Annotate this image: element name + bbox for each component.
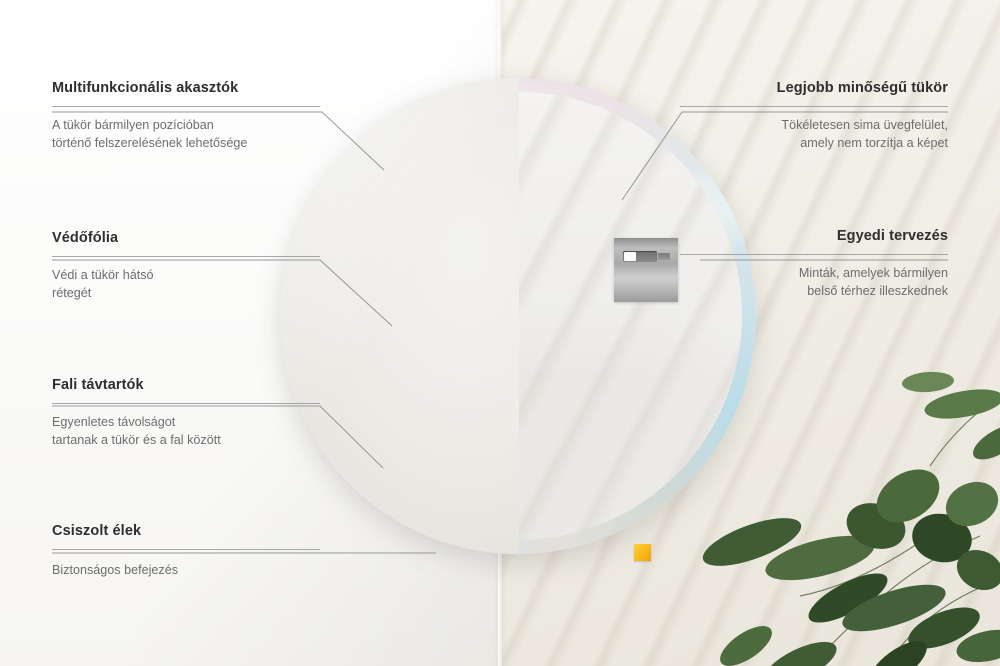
infographic-canvas: Multifunkcionális akasztók A tükör bármi… xyxy=(0,0,1000,666)
callout-description-line: Tökéletesen sima üvegfelület, xyxy=(781,118,948,132)
callout-description: Tökéletesen sima üvegfelület, amely nem … xyxy=(680,117,948,153)
callout-unique-design: Egyedi tervezés Minták, amelyek bármilye… xyxy=(680,228,948,301)
callout-protective-film: Védőfólia Védi a tükör hátsó rétegét xyxy=(52,230,320,303)
callout-title: Fali távtartók xyxy=(52,377,320,394)
callout-rule xyxy=(680,106,948,107)
callout-description: A tükör bármilyen pozícióban történő fel… xyxy=(52,117,320,153)
mirror-reflection xyxy=(518,92,742,540)
callout-title: Legjobb minőségű tükör xyxy=(680,80,948,97)
callout-description-line: tartanak a tükör és a fal között xyxy=(52,433,221,447)
callout-title: Védőfólia xyxy=(52,230,320,247)
callout-description-line: Minták, amelyek bármilyen xyxy=(799,266,948,280)
callout-rule xyxy=(52,106,320,107)
callout-title: Csiszolt élek xyxy=(52,523,320,540)
callout-title: Egyedi tervezés xyxy=(680,228,948,245)
callout-description: Minták, amelyek bármilyen belső térhez i… xyxy=(680,265,948,301)
callout-description-line: amely nem torzítja a képet xyxy=(800,136,948,150)
hanger-keyhole-slot xyxy=(623,251,657,262)
callout-rule xyxy=(52,403,320,404)
callout-description: Biztonságos befejezés xyxy=(52,562,320,580)
callout-description-line: Biztonságos befejezés xyxy=(52,563,178,577)
callout-polished-edges: Csiszolt élek Biztonságos befejezés xyxy=(52,523,320,580)
callout-wall-spacers: Fali távtartók Egyenletes távolságot tar… xyxy=(52,377,320,450)
callout-description: Egyenletes távolságot tartanak a tükör é… xyxy=(52,414,320,450)
reflected-wall xyxy=(518,92,742,540)
hanger-plate xyxy=(614,238,678,302)
callout-description-line: Egyenletes távolságot xyxy=(52,415,175,429)
product-mirror xyxy=(252,78,730,556)
callout-title: Multifunkcionális akasztók xyxy=(52,80,320,97)
callout-multifunctional-hangers: Multifunkcionális akasztók A tükör bármi… xyxy=(52,80,320,153)
callout-description-line: történő felszerelésének lehetősége xyxy=(52,136,247,150)
hanger-secondary-slot xyxy=(658,253,670,260)
callout-description-line: belső térhez illeszkednek xyxy=(807,284,948,298)
callout-rule xyxy=(52,549,320,550)
callout-best-quality-mirror: Legjobb minőségű tükör Tökéletesen sima … xyxy=(680,80,948,153)
callout-description: Védi a tükör hátsó rétegét xyxy=(52,267,320,303)
callout-rule xyxy=(680,254,948,255)
callout-rule xyxy=(52,256,320,257)
callout-description-line: rétegét xyxy=(52,286,91,300)
wall-spacer xyxy=(634,544,651,561)
callout-description-line: Védi a tükör hátsó xyxy=(52,268,154,282)
callout-description-line: A tükör bármilyen pozícióban xyxy=(52,118,214,132)
